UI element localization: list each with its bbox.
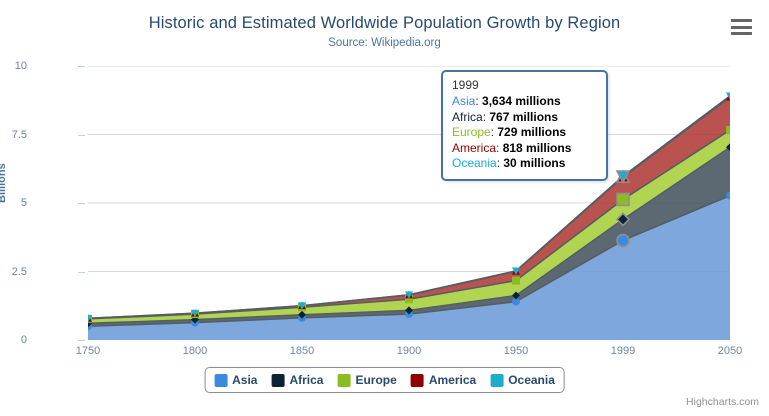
chart-tooltip: 1999 Asia: 3,634 millionsAfrica: 767 mil… (441, 70, 608, 181)
tooltip-series-name: America (452, 141, 496, 155)
x-axis-tick-label: 1800 (183, 345, 207, 357)
tooltip-header: 1999 (452, 78, 597, 92)
y-axis-tick-label: 5 (21, 197, 27, 209)
x-axis-tick-label: 1999 (611, 345, 635, 357)
legend-swatch-icon (490, 374, 503, 387)
y-axis-title: Billions (0, 163, 8, 203)
legend-item-oceania[interactable]: Oceania (490, 373, 555, 387)
y-axis-tick-mark (78, 272, 85, 273)
data-point-europe-1999[interactable] (617, 193, 629, 205)
y-axis-tick-label: 0 (21, 334, 27, 346)
y-axis-tick-label: 7.5 (12, 129, 27, 141)
legend-item-europe[interactable]: Europe (337, 373, 396, 387)
plot-area (88, 66, 730, 340)
tooltip-row-africa: Africa: 767 millions (452, 110, 597, 126)
legend-item-label: Africa (289, 373, 323, 387)
tooltip-series-name: Oceania (452, 156, 497, 170)
credits-link[interactable]: Highcharts.com (686, 396, 759, 408)
legend-swatch-icon (271, 374, 284, 387)
tooltip-series-value: 818 millions (503, 141, 572, 155)
highcharts-chart: Historic and Estimated Worldwide Populat… (0, 0, 769, 416)
hamburger-bar (731, 26, 752, 29)
y-axis-tick-mark (78, 66, 85, 67)
legend-swatch-icon (411, 374, 424, 387)
data-point-asia-1999[interactable] (617, 234, 629, 246)
data-point-europe-1950[interactable] (512, 277, 520, 285)
tooltip-row-america: America: 818 millions (452, 141, 597, 157)
legend-swatch-icon (337, 374, 350, 387)
legend-item-africa[interactable]: Africa (271, 373, 323, 387)
x-axis-tick-label: 1900 (397, 345, 421, 357)
y-axis-tick-mark (78, 203, 85, 204)
chart-subtitle: Source: Wikipedia.org (0, 37, 769, 49)
data-point-europe-2050[interactable] (726, 126, 730, 134)
legend-item-label: Asia (232, 373, 257, 387)
legend-item-america[interactable]: America (411, 373, 476, 387)
legend-item-label: America (429, 373, 476, 387)
tooltip-series-name: Africa (452, 110, 483, 124)
legend-item-label: Oceania (508, 373, 555, 387)
tooltip-series-value: 30 millions (503, 156, 565, 170)
hamburger-menu-icon[interactable] (731, 18, 753, 36)
tooltip-series-name: Asia (452, 94, 475, 108)
legend-swatch-icon (214, 374, 227, 387)
x-axis-tick-label: 1750 (76, 345, 100, 357)
hamburger-bar (731, 32, 752, 35)
tooltip-rows: Asia: 3,634 millionsAfrica: 767 millions… (452, 94, 597, 172)
tooltip-series-value: 767 millions (489, 110, 558, 124)
tooltip-separator: : (496, 141, 503, 155)
tooltip-separator: : (475, 94, 482, 108)
y-axis-tick-label: 2.5 (12, 266, 27, 278)
y-axis-tick-label: 10 (15, 60, 27, 72)
chart-canvas (88, 66, 730, 340)
hamburger-bar (731, 19, 752, 22)
tooltip-row-asia: Asia: 3,634 millions (452, 94, 597, 110)
y-axis-tick-mark (78, 135, 85, 136)
chart-legend: AsiaAfricaEuropeAmericaOceania (204, 367, 565, 393)
tooltip-row-oceania: Oceania: 30 millions (452, 156, 597, 172)
page-title: Historic and Estimated Worldwide Populat… (0, 14, 769, 33)
y-axis-tick-mark (78, 340, 85, 341)
tooltip-series-value: 3,634 millions (482, 94, 561, 108)
x-axis-tick-label: 1850 (290, 345, 314, 357)
x-axis-tick-label: 1950 (504, 345, 528, 357)
legend-item-label: Europe (355, 373, 396, 387)
tooltip-row-europe: Europe: 729 millions (452, 125, 597, 141)
legend-item-asia[interactable]: Asia (214, 373, 257, 387)
tooltip-series-value: 729 millions (497, 125, 566, 139)
tooltip-series-name: Europe (452, 125, 491, 139)
x-axis-tick-label: 2050 (718, 345, 742, 357)
